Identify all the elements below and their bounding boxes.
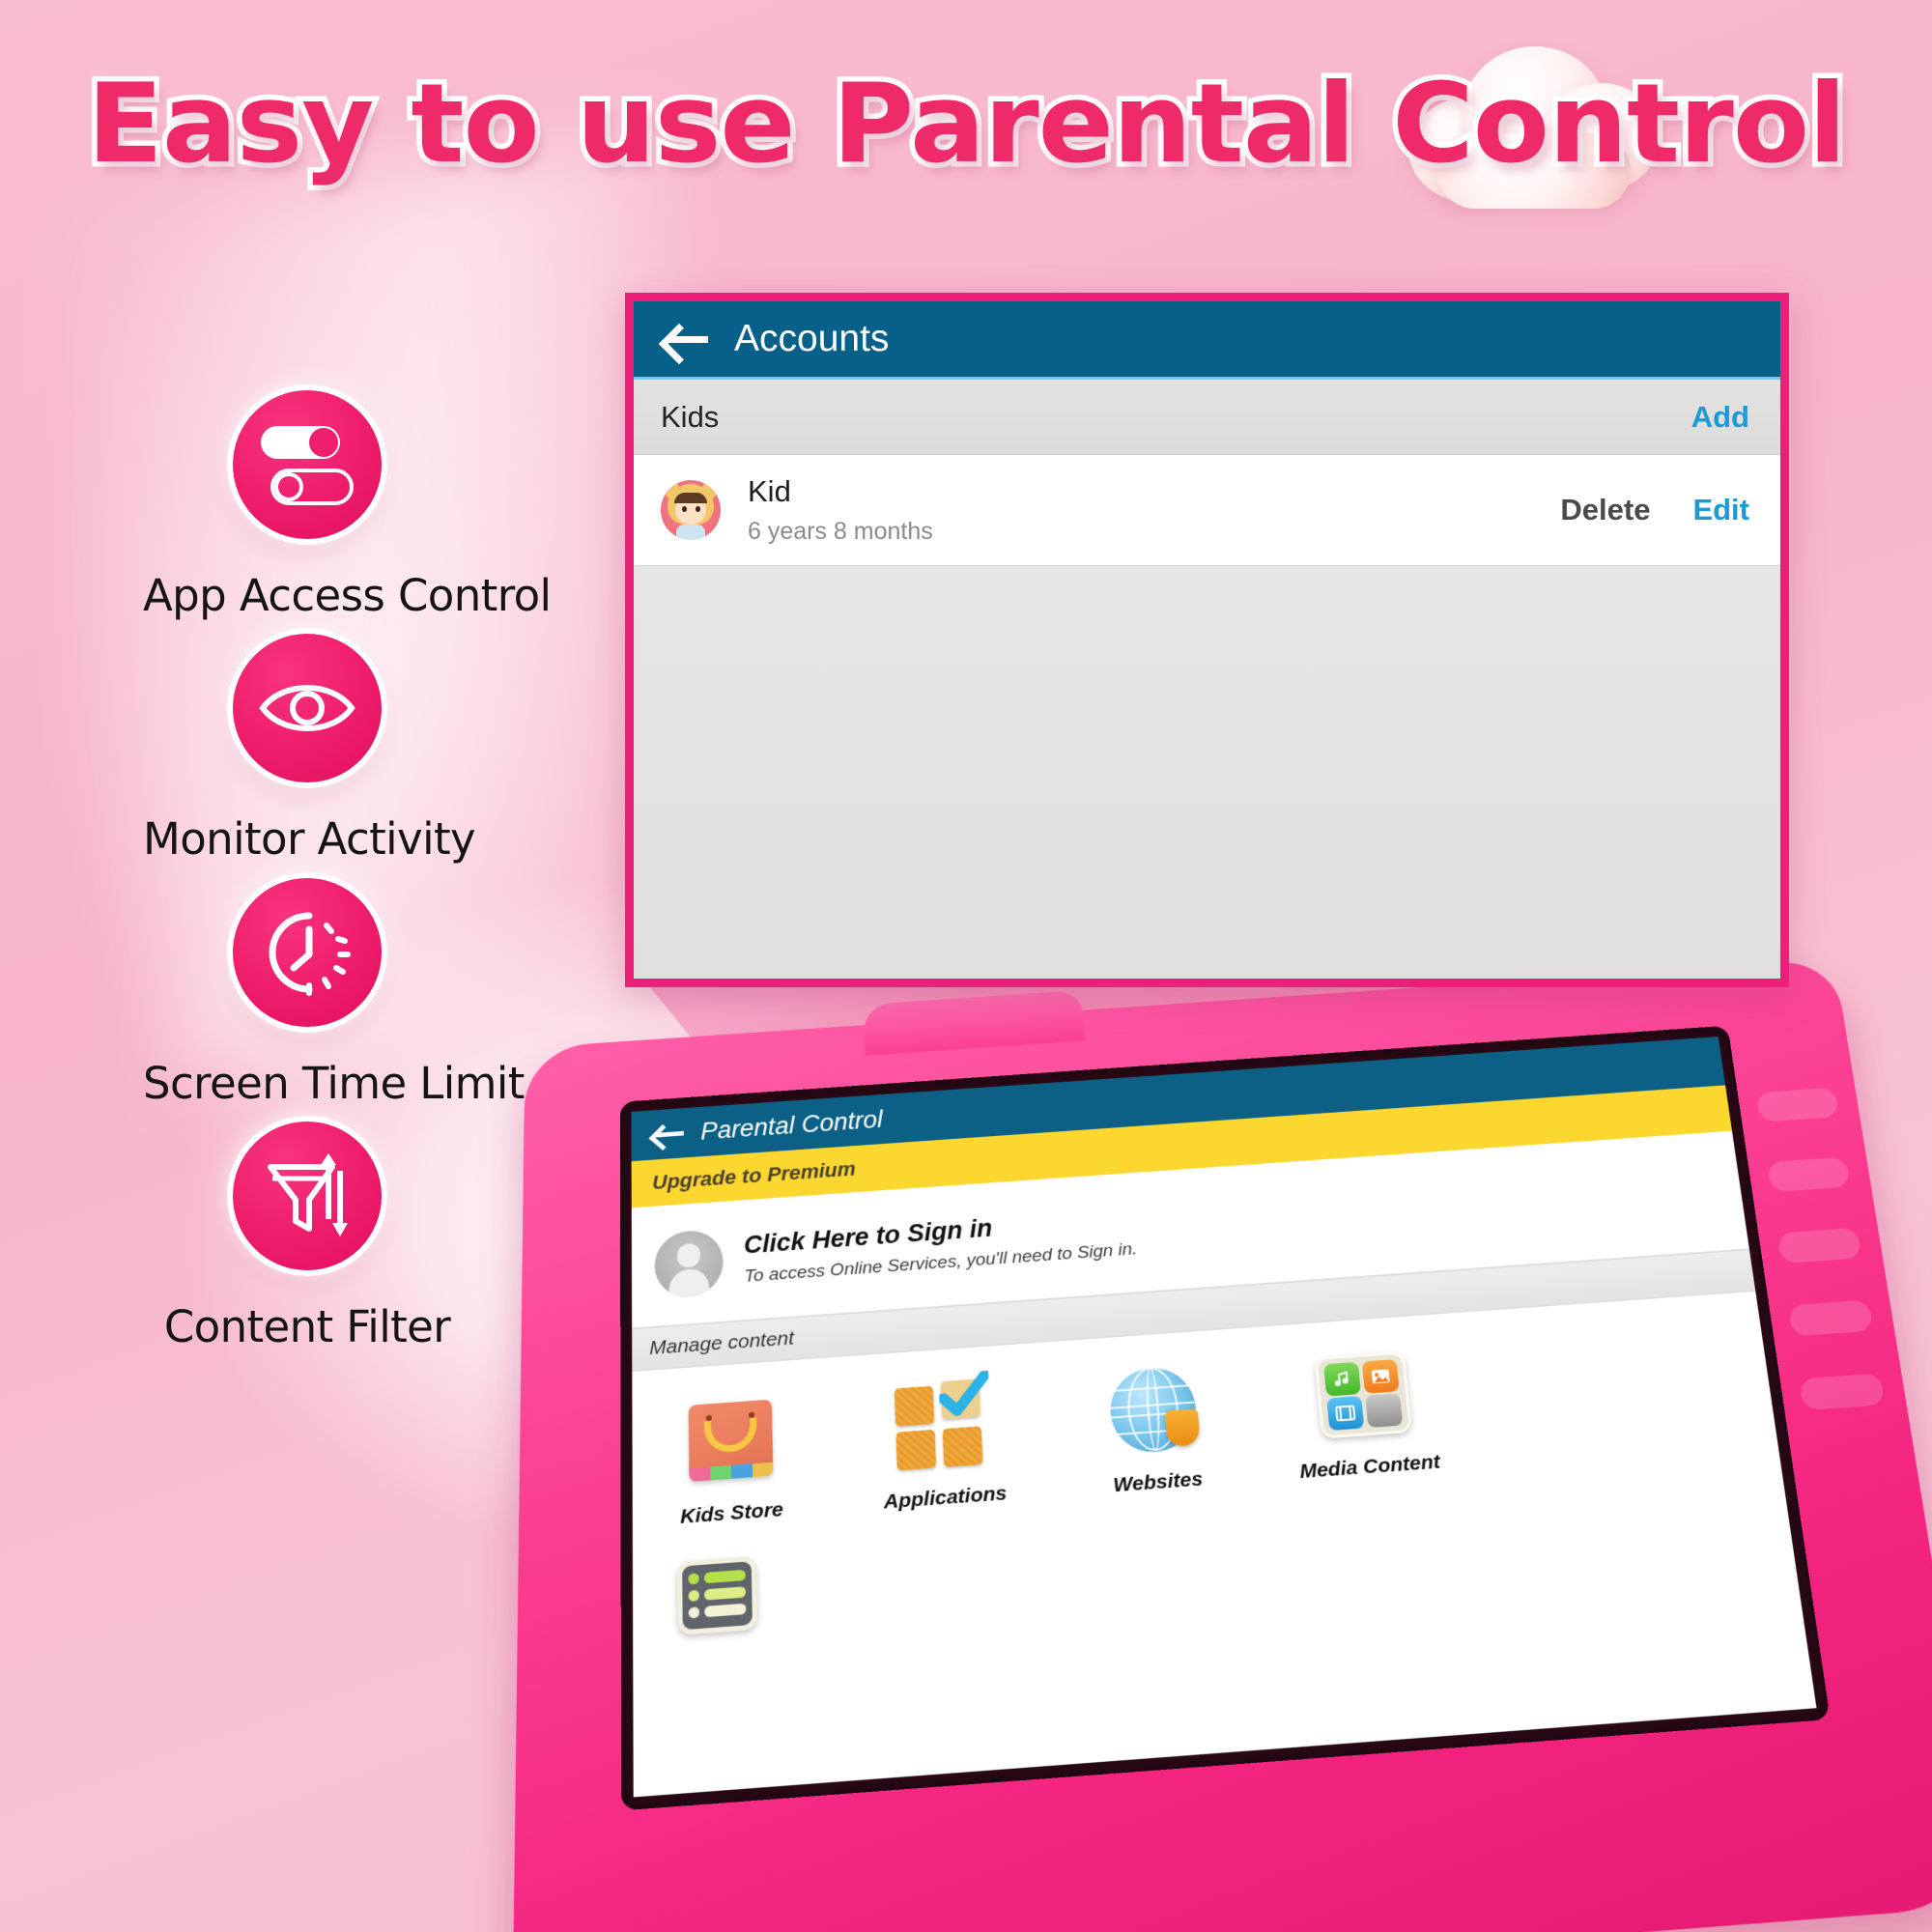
tile-applications[interactable]: Applications <box>867 1369 1019 1515</box>
eye-icon <box>227 628 387 788</box>
timer-clock-icon <box>227 872 387 1033</box>
page-title: Easy to use Parental Control <box>87 60 1845 187</box>
tablet-device: Parental Control Upgrade to Premium Clic… <box>522 966 1913 1932</box>
delete-account-button[interactable]: Delete <box>1560 493 1650 527</box>
kids-section-label: Kids <box>661 400 719 435</box>
tablet-bezel: Parental Control Upgrade to Premium Clic… <box>620 1026 1831 1811</box>
account-info: Kid 6 years 8 months <box>748 474 1560 546</box>
toggle-switches-icon <box>227 384 387 545</box>
back-arrow-icon[interactable] <box>652 1122 684 1146</box>
shopping-bag-icon <box>657 1384 805 1498</box>
account-name: Kid <box>748 474 1560 509</box>
headline-container: Easy to use Parental Control <box>0 60 1932 187</box>
feature-label: Content Filter <box>143 1301 471 1352</box>
accounts-appbar-title: Accounts <box>734 318 889 360</box>
back-arrow-icon[interactable] <box>663 323 708 355</box>
tile-kids-store[interactable]: Kids Store <box>657 1384 806 1531</box>
app-squares-check-icon <box>867 1369 1017 1482</box>
feature-label: Screen Time Limit <box>143 1058 471 1109</box>
globe-shield-icon <box>1078 1354 1230 1467</box>
accounts-appbar: Accounts <box>634 301 1780 380</box>
media-folder-icon <box>1287 1339 1440 1451</box>
add-account-button[interactable]: Add <box>1691 400 1749 435</box>
user-avatar-icon <box>654 1228 724 1298</box>
feature-screen-time-limit[interactable]: Screen Time Limit <box>143 872 471 1109</box>
tile-media-content[interactable]: Media Content <box>1287 1339 1444 1484</box>
parental-control-title: Parental Control <box>700 1105 883 1145</box>
kids-section-header: Kids Add <box>634 380 1780 455</box>
parental-control-screen: Parental Control Upgrade to Premium Clic… <box>631 1037 1816 1797</box>
account-list-item[interactable]: Kid 6 years 8 months Delete Edit <box>634 455 1780 566</box>
accounts-empty-area <box>634 566 1780 987</box>
tile-label <box>663 1643 773 1651</box>
kid-avatar-icon <box>661 480 721 540</box>
account-age: 6 years 8 months <box>748 518 1560 546</box>
feature-app-access-control[interactable]: App Access Control <box>143 384 471 621</box>
funnel-filter-icon <box>227 1116 387 1276</box>
account-actions: Delete Edit <box>1560 493 1749 527</box>
tile-list-settings[interactable] <box>663 1550 773 1642</box>
feature-monitor-activity[interactable]: Monitor Activity <box>143 628 471 865</box>
accounts-screen: Accounts Kids Add Kid 6 years 8 months D… <box>625 293 1789 987</box>
feature-label: App Access Control <box>143 570 471 621</box>
tile-websites[interactable]: Websites <box>1078 1354 1233 1500</box>
feature-label: Monitor Activity <box>143 813 471 865</box>
feature-content-filter[interactable]: Content Filter <box>143 1116 471 1352</box>
edit-account-button[interactable]: Edit <box>1692 493 1749 527</box>
list-settings-icon <box>663 1550 773 1642</box>
